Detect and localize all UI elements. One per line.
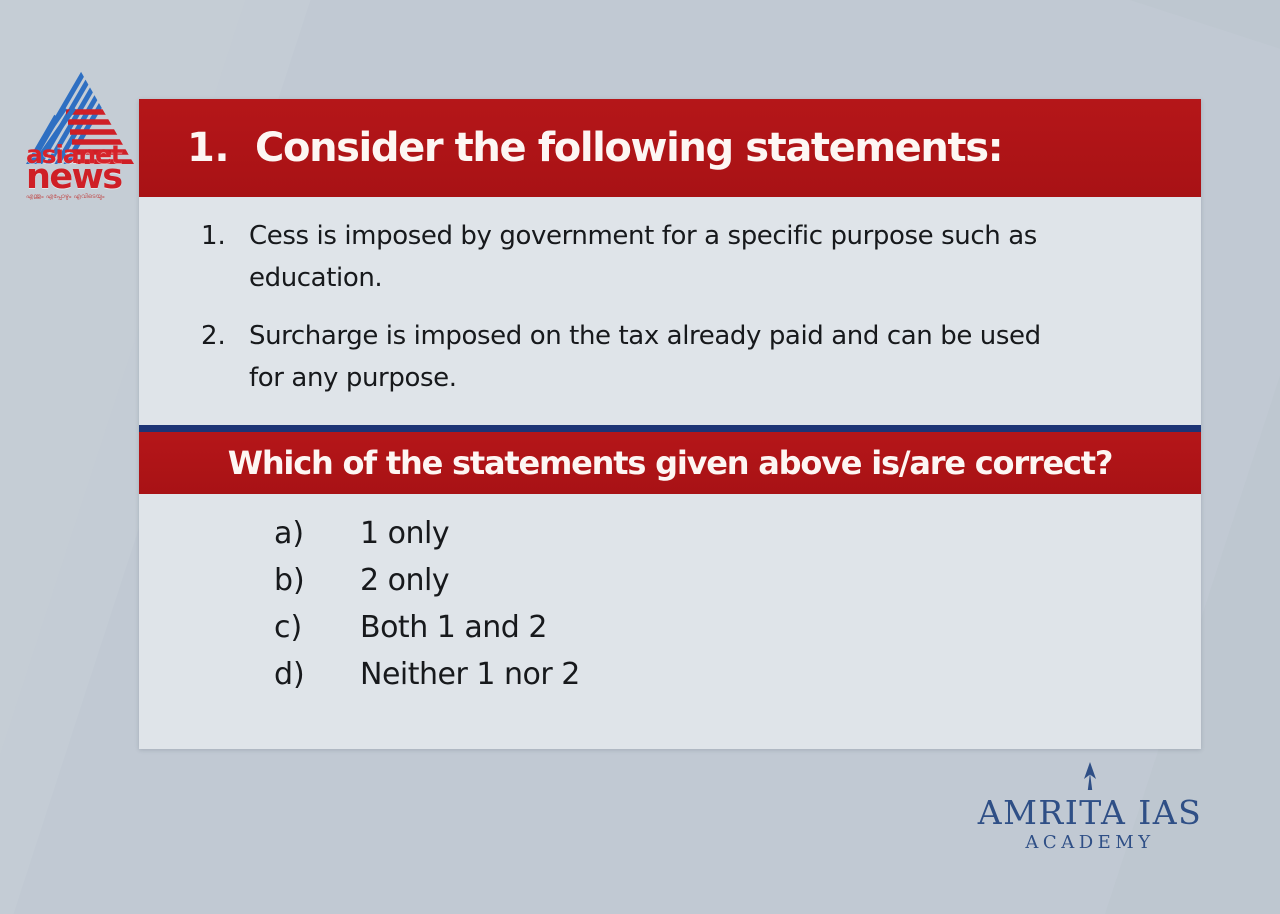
option-label: 1 only xyxy=(360,516,449,551)
question-title-bar: 1. Consider the following statements: xyxy=(139,99,1201,197)
option-label: Both 1 and 2 xyxy=(360,610,547,645)
option-b[interactable]: b) 2 only xyxy=(274,563,1201,598)
asianet-news-logo: asianet news എന്തും എപ്പോഴും എവിടെയും xyxy=(20,68,140,208)
question-prompt: Which of the statements given above is/a… xyxy=(228,444,1112,482)
asianet-tagline: എന്തും എപ്പോഴും എവിടെയും xyxy=(26,194,138,199)
option-key: b) xyxy=(274,563,360,598)
amrita-subtitle: ACADEMY xyxy=(965,832,1215,853)
question-card: 1. Consider the following statements: 1.… xyxy=(139,99,1201,749)
navy-divider xyxy=(139,425,1201,432)
option-key: d) xyxy=(274,657,360,692)
statement-item: 2. Surcharge is imposed on the tax alrea… xyxy=(201,315,1175,399)
options-list: a) 1 only b) 2 only c) Both 1 and 2 d) N… xyxy=(139,494,1201,692)
statement-text: Cess is imposed by government for a spec… xyxy=(249,215,1049,299)
option-a[interactable]: a) 1 only xyxy=(274,516,1201,551)
amrita-ias-academy-logo: AMRITA IAS ACADEMY xyxy=(965,762,1215,853)
statement-number: 1. xyxy=(201,215,249,299)
question-prompt-bar: Which of the statements given above is/a… xyxy=(139,432,1201,494)
statements-list: 1. Cess is imposed by government for a s… xyxy=(139,197,1201,421)
option-key: a) xyxy=(274,516,360,551)
option-d[interactable]: d) Neither 1 nor 2 xyxy=(274,657,1201,692)
asianet-wordmark: asianet news എന്തും എപ്പോഴും എവിടെയും xyxy=(26,144,138,199)
question-title: Consider the following statements: xyxy=(255,125,1002,171)
question-number: 1. xyxy=(187,125,229,171)
amrita-name: AMRITA IAS xyxy=(965,796,1215,831)
statement-item: 1. Cess is imposed by government for a s… xyxy=(201,215,1175,299)
statement-number: 2. xyxy=(201,315,249,399)
asianet-word-bottom: news xyxy=(26,163,138,192)
option-label: 2 only xyxy=(360,563,449,598)
option-key: c) xyxy=(274,610,360,645)
option-label: Neither 1 nor 2 xyxy=(360,657,580,692)
spire-arrow-icon xyxy=(965,762,1215,795)
option-c[interactable]: c) Both 1 and 2 xyxy=(274,610,1201,645)
statement-text: Surcharge is imposed on the tax already … xyxy=(249,315,1049,399)
